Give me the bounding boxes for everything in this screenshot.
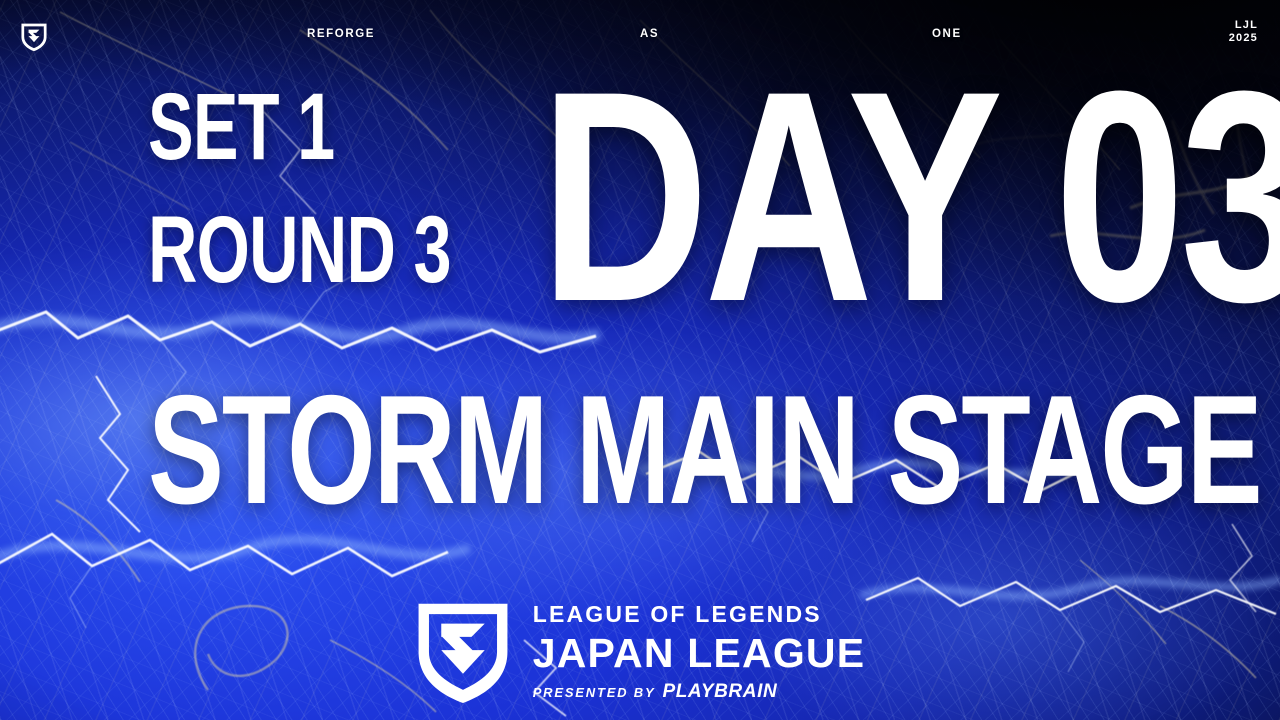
presented-by-label: PRESENTED BY — [533, 686, 656, 699]
broadcast-title-card: REFORGE AS ONE LJL 2025 SET 1 ROUND 3 DA… — [0, 0, 1280, 720]
sponsor-playbrain-label: PLAYBRAIN — [662, 682, 777, 701]
ljl-shield-icon — [20, 22, 48, 52]
day-label: DAY 03 — [540, 70, 1280, 322]
headline-block: SET 1 ROUND 3 DAY 03 STORM MAIN STAGE — [148, 84, 1148, 518]
league-lockup-text: LEAGUE OF LEGENDS JAPAN LEAGUE PRESENTED… — [533, 603, 866, 701]
set-label: SET 1 — [148, 84, 400, 171]
lockup-presented-by: PRESENTED BY PLAYBRAIN — [533, 682, 866, 701]
lockup-line-lol: LEAGUE OF LEGENDS — [533, 603, 866, 626]
round-label: ROUND 3 — [148, 207, 400, 294]
lockup-line-japan-league: JAPAN LEAGUE — [533, 633, 866, 674]
set-round-stack: SET 1 ROUND 3 — [148, 84, 498, 295]
ljl-shield-icon — [415, 600, 511, 704]
stage-label: STORM MAIN STAGE — [148, 382, 883, 518]
headline-top-row: SET 1 ROUND 3 DAY 03 — [148, 84, 1148, 370]
league-lockup: LEAGUE OF LEGENDS JAPAN LEAGUE PRESENTED… — [0, 600, 1280, 704]
header-word-reforge: REFORGE — [307, 28, 375, 40]
